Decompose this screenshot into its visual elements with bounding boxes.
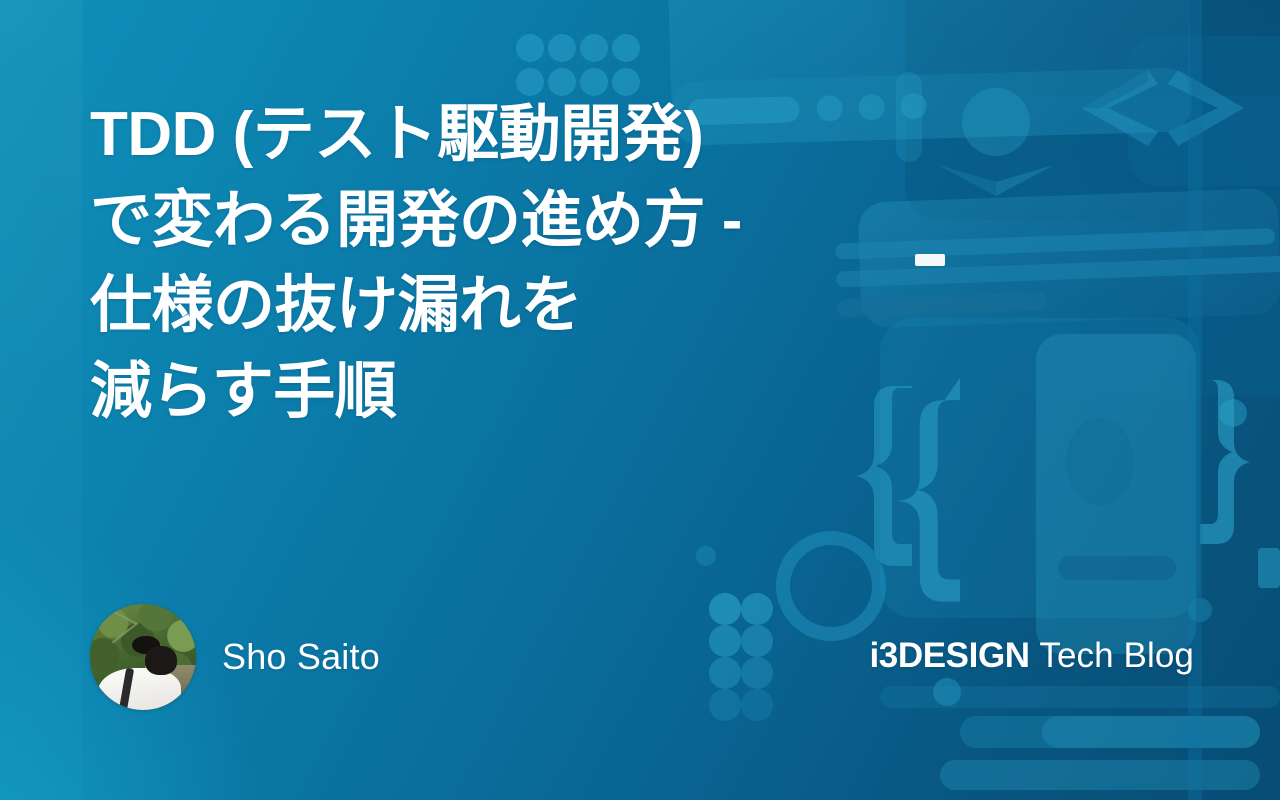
- brand-space: [1030, 636, 1040, 675]
- author-block: Sho Saito: [90, 604, 380, 710]
- brand-logo: i3DESIGN Tech Blog: [869, 636, 1194, 676]
- avatar-shirt: [98, 668, 181, 710]
- blog-cover-card: TDD (テスト駆動開発) で変わる開発の進め方 - 仕様の抜け漏れを 減らす手…: [0, 0, 1280, 800]
- card-content: TDD (テスト駆動開発) で変わる開発の進め方 - 仕様の抜け漏れを 減らす手…: [0, 0, 1280, 800]
- brand-primary: i3DESIGN: [869, 636, 1029, 675]
- brand-secondary: Tech Blog: [1039, 636, 1194, 675]
- avatar-hair: [145, 646, 177, 675]
- author-name: Sho Saito: [222, 636, 380, 678]
- page-title: TDD (テスト駆動開発) で変わる開発の進め方 - 仕様の抜け漏れを 減らす手…: [90, 92, 990, 434]
- avatar: [90, 604, 196, 710]
